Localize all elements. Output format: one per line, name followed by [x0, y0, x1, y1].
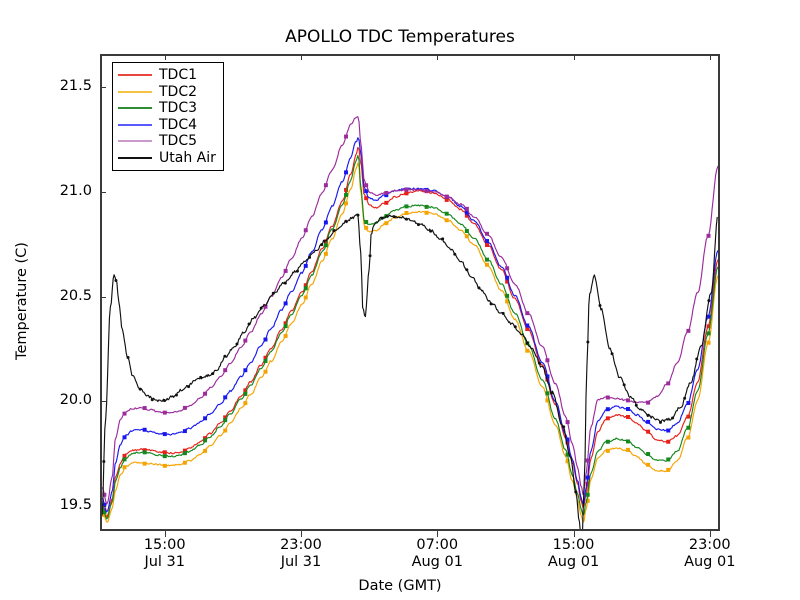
x-tick-date: Aug 01: [650, 554, 770, 571]
x-tick-date: Jul 31: [105, 554, 225, 571]
legend-swatch: [118, 91, 152, 93]
x-tick-label: 15:00Aug 01: [514, 537, 634, 571]
legend-label: Utah Air: [159, 150, 216, 167]
legend-label: TDC3: [159, 100, 197, 117]
y-tick-mark: [100, 87, 106, 88]
x-tick-time: 15:00: [105, 537, 225, 554]
legend-item-tdc3: TDC3: [118, 100, 216, 117]
x-tick-time: 23:00: [241, 537, 361, 554]
x-tick-label: 23:00Jul 31: [241, 537, 361, 571]
x-tick-label: 23:00Aug 01: [650, 537, 770, 571]
y-tick-mark: [100, 506, 106, 507]
legend-label: TDC5: [159, 133, 197, 150]
chart-legend: TDC1TDC2TDC3TDC4TDC5Utah Air: [112, 62, 224, 171]
legend-swatch: [118, 157, 152, 159]
x-tick-mark: [301, 531, 302, 537]
x-tick-date: Jul 31: [241, 554, 361, 571]
x-tick-label: 15:00Jul 31: [105, 537, 225, 571]
y-tick-mark: [100, 297, 106, 298]
legend-item-tdc1: TDC1: [118, 67, 216, 84]
legend-item-tdc2: TDC2: [118, 84, 216, 101]
x-axis-label: Date (GMT): [0, 578, 800, 594]
x-tick-time: 07:00: [377, 537, 497, 554]
x-tick-mark: [710, 531, 711, 537]
x-tick-mark-top: [437, 54, 438, 60]
x-tick-date: Aug 01: [514, 554, 634, 571]
y-tick-mark: [100, 192, 106, 193]
legend-label: TDC1: [159, 67, 197, 84]
x-tick-mark: [437, 531, 438, 537]
x-tick-mark-top: [574, 54, 575, 60]
legend-item-tdc4: TDC4: [118, 117, 216, 134]
legend-item-tdc5: TDC5: [118, 133, 216, 150]
legend-item-utah-air: Utah Air: [118, 150, 216, 167]
x-tick-mark-top: [710, 54, 711, 60]
legend-label: TDC4: [159, 117, 197, 134]
legend-label: TDC2: [159, 84, 197, 101]
x-tick-mark: [574, 531, 575, 537]
x-tick-mark-top: [301, 54, 302, 60]
x-tick-date: Aug 01: [377, 554, 497, 571]
y-axis-label: Temperature (C): [14, 171, 30, 431]
x-tick-time: 23:00: [650, 537, 770, 554]
legend-swatch: [118, 124, 152, 126]
y-tick-mark: [100, 401, 106, 402]
chart-page: APOLLO TDC Temperatures 19.520.020.521.0…: [0, 0, 800, 600]
legend-swatch: [118, 140, 152, 142]
legend-swatch: [118, 107, 152, 109]
x-tick-time: 15:00: [514, 537, 634, 554]
x-tick-label: 07:00Aug 01: [377, 537, 497, 571]
x-tick-mark-top: [165, 54, 166, 60]
x-tick-mark: [165, 531, 166, 537]
legend-swatch: [118, 74, 152, 76]
